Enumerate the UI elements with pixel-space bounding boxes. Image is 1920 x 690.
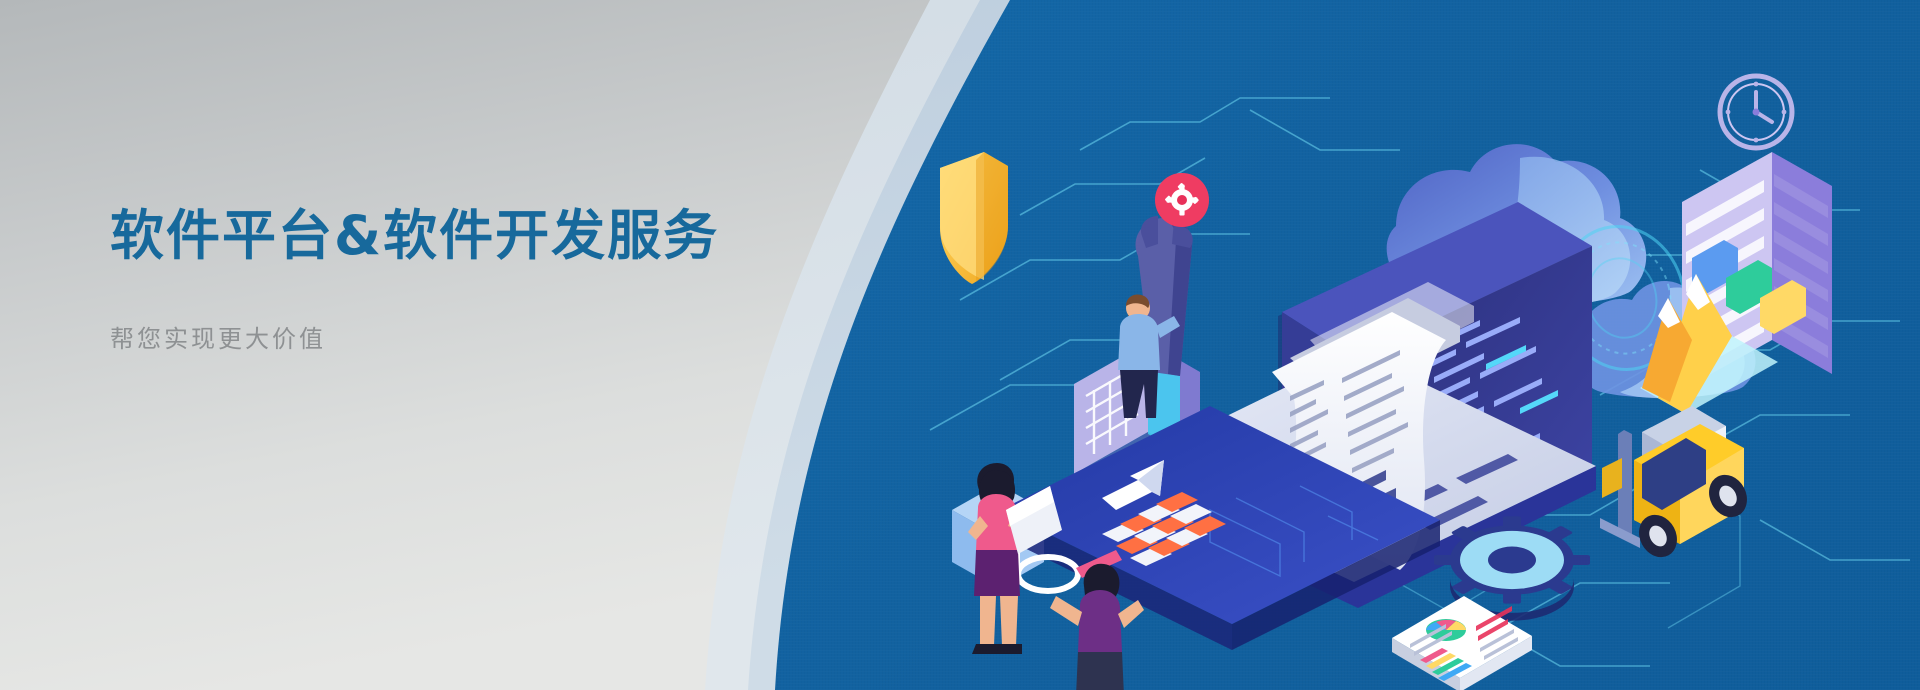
hero-banner: 软件平台&软件开发服务 帮您实现更大价值 (0, 0, 1920, 690)
hero-text-block: 软件平台&软件开发服务 帮您实现更大价值 (110, 205, 870, 354)
news-report-card (1392, 596, 1532, 690)
gear-badge-icon (1155, 173, 1209, 227)
forklift-vehicle (1600, 406, 1754, 564)
page-subtitle: 帮您实现更大价值 (110, 319, 870, 354)
isometric-illustration (880, 40, 1920, 690)
shield-icon (940, 152, 1008, 284)
page-title: 软件平台&软件开发服务 (110, 205, 870, 267)
clock-icon (1720, 76, 1792, 148)
